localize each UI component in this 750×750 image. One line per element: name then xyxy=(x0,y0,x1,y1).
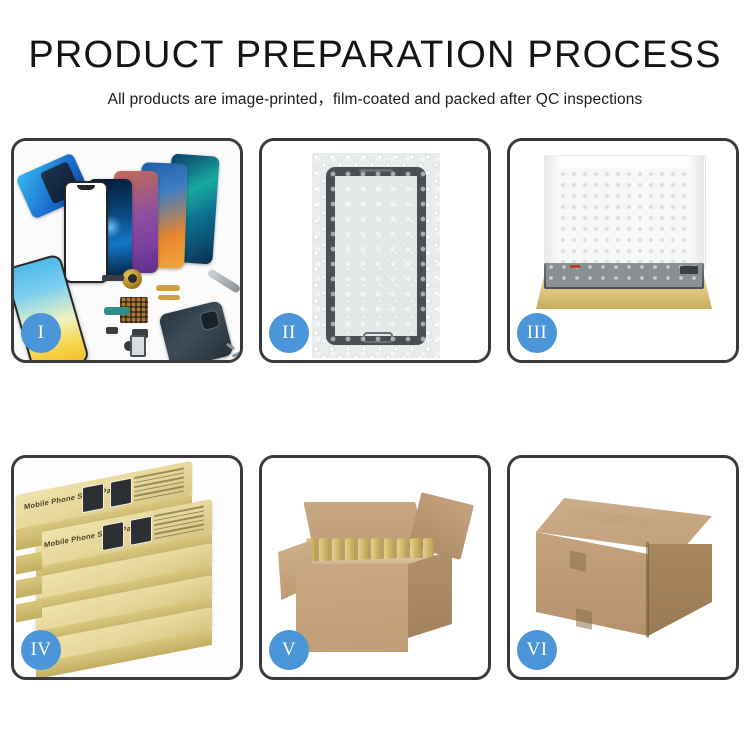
bubble-wrap-sheet-icon xyxy=(312,153,440,358)
bubble-texture-overlay xyxy=(312,153,440,358)
step-badge-4: IV xyxy=(21,630,61,670)
lid-flap-left-icon xyxy=(544,155,558,267)
speaker-coil-icon xyxy=(122,269,142,289)
step-panel-6[interactable]: VI xyxy=(507,455,739,680)
foam-liner-icon xyxy=(558,169,690,265)
red-label-icon xyxy=(570,265,580,268)
header: PRODUCT PREPARATION PROCESS All products… xyxy=(0,0,750,109)
step-panel-3[interactable]: III xyxy=(507,138,739,363)
page-subtitle: All products are image-printed，film-coat… xyxy=(0,76,750,109)
carton-side-face-icon xyxy=(408,550,452,638)
step-panel-1[interactable]: I xyxy=(11,138,243,363)
flex-cable-icon xyxy=(156,285,180,291)
repair-tweezers-icon xyxy=(207,268,240,294)
product-preparation-infographic: PRODUCT PREPARATION PROCESS All products… xyxy=(0,0,750,750)
phone-thumb-icon xyxy=(110,478,132,508)
step-badge-3: III xyxy=(517,313,557,353)
sim-tray-icon xyxy=(130,335,146,357)
connector-bar-icon xyxy=(102,275,124,281)
connector-bar-icon xyxy=(106,327,118,334)
process-steps-grid: I II xyxy=(11,138,739,686)
carton-edge-icon xyxy=(646,542,649,639)
step-panel-2[interactable]: II xyxy=(259,138,491,363)
step-badge-1: I xyxy=(21,313,61,353)
carton-front-face-icon xyxy=(296,564,408,652)
open-carton-icon xyxy=(296,544,452,652)
step-badge-5: V xyxy=(269,630,309,670)
flex-cable-icon xyxy=(158,295,180,300)
carton-side-face-icon xyxy=(648,544,712,640)
lid-flap-right-icon xyxy=(690,155,704,267)
phone-thumb-icon xyxy=(130,516,152,546)
spare-parts-group xyxy=(102,267,240,360)
step-panel-5[interactable]: V xyxy=(259,455,491,680)
screw-icon xyxy=(232,351,240,358)
phone-thumb-icon xyxy=(82,483,104,513)
carton-handle-tab-icon xyxy=(570,550,586,571)
phone-back-housing-icon xyxy=(158,300,234,360)
box-spec-lines-icon xyxy=(154,505,204,539)
carton-handle-tab-icon xyxy=(576,608,592,629)
phone-notch-icon xyxy=(77,185,95,190)
wrapped-screen-in-box-icon xyxy=(546,263,702,287)
phone-thumb-icon xyxy=(102,521,124,551)
step-panel-4[interactable]: Mobile Phone Spare Parts Mobile Phone Sp… xyxy=(11,455,243,680)
sealed-carton-icon xyxy=(536,498,712,644)
phone-fan-group xyxy=(60,153,240,273)
green-flex-icon xyxy=(104,307,130,315)
box-spec-lines-icon xyxy=(134,467,184,501)
step-badge-6: VI xyxy=(517,630,557,670)
step-badge-2: II xyxy=(269,313,309,353)
page-title: PRODUCT PREPARATION PROCESS xyxy=(0,0,750,76)
